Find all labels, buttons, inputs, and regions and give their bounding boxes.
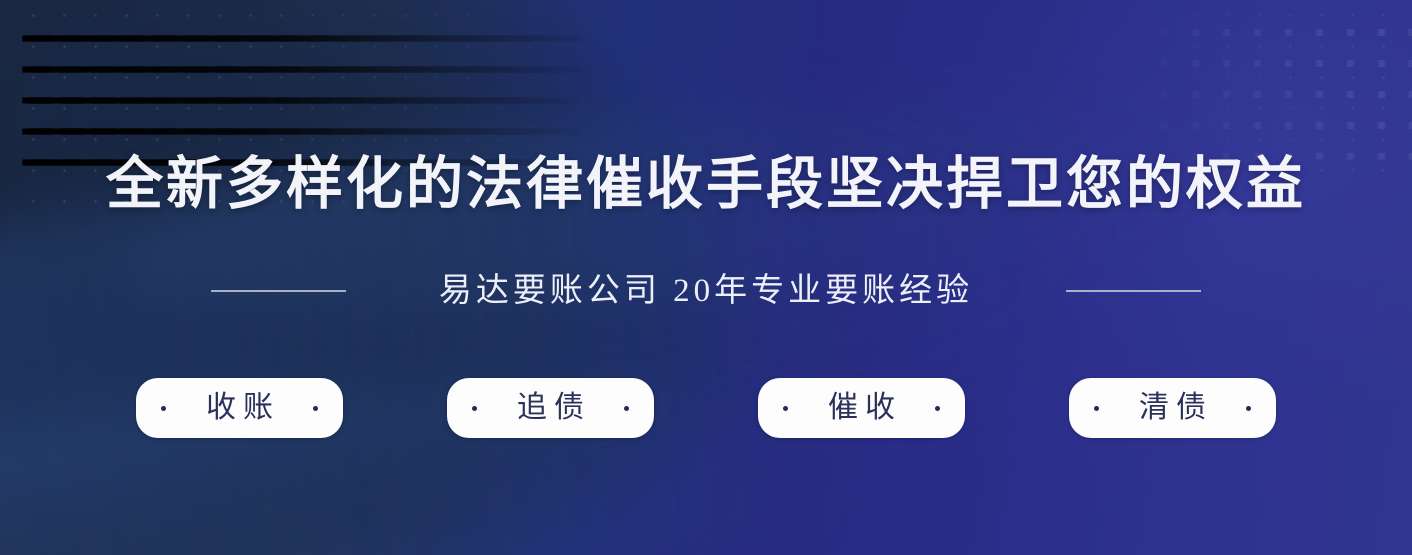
service-pill-group: 收账 追债 催收 清债	[0, 378, 1412, 438]
promo-banner: 全新多样化的法律催收手段坚决捍卫您的权益 易达要账公司 20年专业要账经验 收账…	[0, 0, 1412, 555]
banner-content: 全新多样化的法律催收手段坚决捍卫您的权益 易达要账公司 20年专业要账经验 收账…	[0, 0, 1412, 555]
bullet-dot-left-icon	[783, 406, 788, 411]
bullet-dot-right-icon	[624, 406, 629, 411]
service-pill-label: 清债	[1132, 393, 1213, 423]
service-pill-label: 追债	[510, 393, 591, 423]
divider-line-left	[211, 290, 346, 292]
headline: 全新多样化的法律催收手段坚决捍卫您的权益	[0, 145, 1412, 225]
service-pill-label: 收账	[199, 393, 280, 423]
service-pill-cuishou[interactable]: 催收	[758, 378, 965, 438]
service-pill-shouzhang[interactable]: 收账	[136, 378, 343, 438]
service-pill-zhuizhai[interactable]: 追债	[447, 378, 654, 438]
subtitle-row: 易达要账公司 20年专业要账经验	[0, 268, 1412, 314]
divider-line-right	[1066, 290, 1201, 292]
bullet-dot-right-icon	[1246, 406, 1251, 411]
subtitle: 易达要账公司 20年专业要账经验	[439, 268, 973, 314]
bullet-dot-right-icon	[313, 406, 318, 411]
service-pill-label: 催收	[821, 393, 902, 423]
bullet-dot-left-icon	[161, 406, 166, 411]
bullet-dot-left-icon	[1094, 406, 1099, 411]
bullet-dot-right-icon	[935, 406, 940, 411]
bullet-dot-left-icon	[472, 406, 477, 411]
service-pill-qingzhai[interactable]: 清债	[1069, 378, 1276, 438]
